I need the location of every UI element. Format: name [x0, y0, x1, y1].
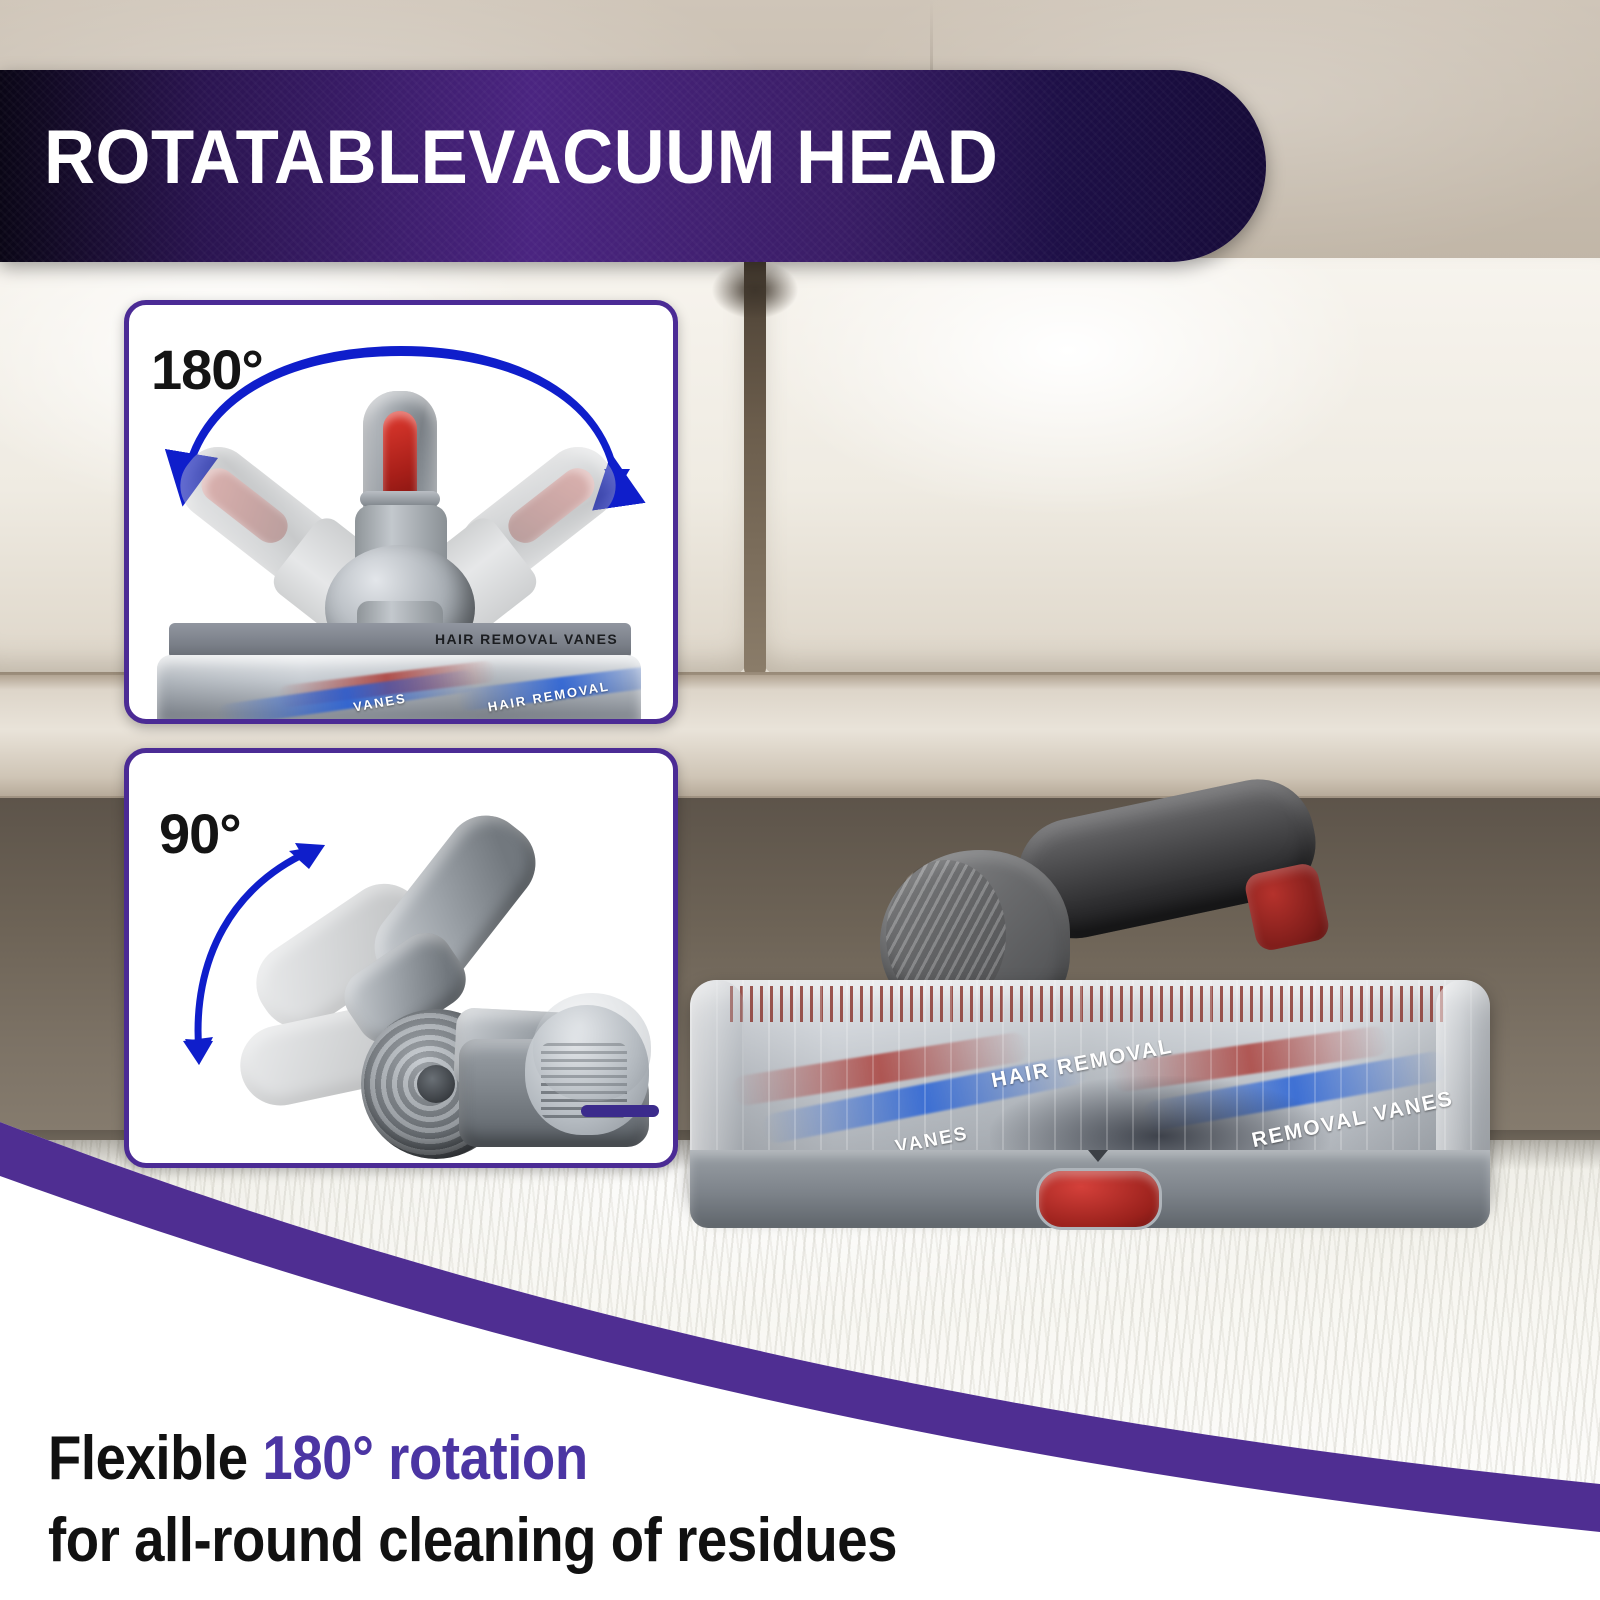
ghost-wand-left-button — [195, 461, 295, 549]
card1-label-hair-removal-vanes: HAIR REMOVAL VANES — [435, 631, 618, 647]
card1-stripe-blue — [217, 669, 478, 719]
caption-accent: 180° rotation — [262, 1424, 587, 1493]
sofa-cushion-right — [760, 258, 1600, 678]
caption-prefix: Flexible — [48, 1424, 262, 1493]
product-feature-image: HAIR REMOVAL VANES REMOVAL VANES ROTATAB… — [0, 0, 1600, 1600]
caption-block: Flexible 180° rotation for all-round cle… — [48, 1418, 1148, 1582]
angle-label-90: 90° — [159, 801, 241, 866]
handle-power-button — [1243, 861, 1332, 953]
angle-label-180: 180° — [151, 337, 263, 402]
caption-line-1: Flexible 180° rotation — [48, 1418, 1016, 1500]
title-banner: ROTATABLEVACUUM HEAD — [0, 70, 1266, 262]
cushion-top-notch — [700, 255, 810, 325]
caption-line-2: for all-round cleaning of residues — [48, 1500, 1016, 1582]
card1-roller: VANES HAIR REMOVAL — [157, 655, 641, 719]
page-title: ROTATABLEVACUUM HEAD — [44, 120, 998, 196]
ghost-wand-right-button — [502, 461, 602, 549]
card-rotation-180: 180° — [124, 300, 678, 724]
